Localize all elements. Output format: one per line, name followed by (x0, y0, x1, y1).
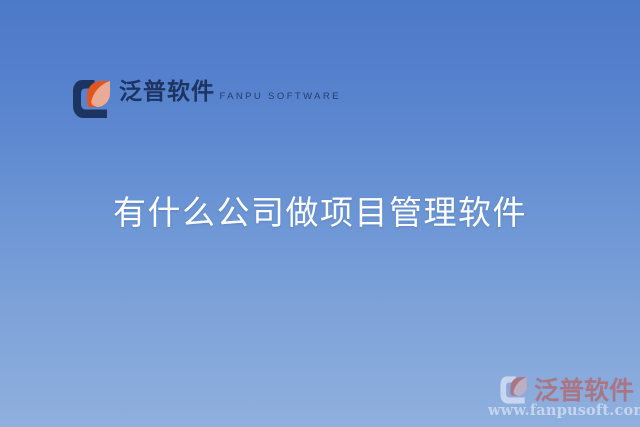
brand-name-en: FANPU SOFTWARE (219, 91, 340, 102)
slide-canvas: 泛普软件 FANPU SOFTWARE 有什么公司做项目管理软件 泛普软件 ww… (0, 0, 640, 427)
page-title: 有什么公司做项目管理软件 (0, 186, 640, 234)
brand-name-cn: 泛普软件 (119, 79, 215, 105)
brand-text-block: 泛普软件 FANPU SOFTWARE (119, 78, 341, 105)
watermark: 泛普软件 www.fanpusoft.com (488, 375, 634, 419)
brand-logo[interactable]: 泛普软件 FANPU SOFTWARE (72, 78, 341, 120)
watermark-name-cn: 泛普软件 (534, 377, 634, 404)
watermark-logo-row: 泛普软件 (488, 375, 634, 405)
fanpu-logo-mark-icon (72, 78, 112, 120)
fanpu-logo-mark-icon (497, 375, 531, 405)
watermark-url: www.fanpusoft.com (488, 403, 634, 419)
